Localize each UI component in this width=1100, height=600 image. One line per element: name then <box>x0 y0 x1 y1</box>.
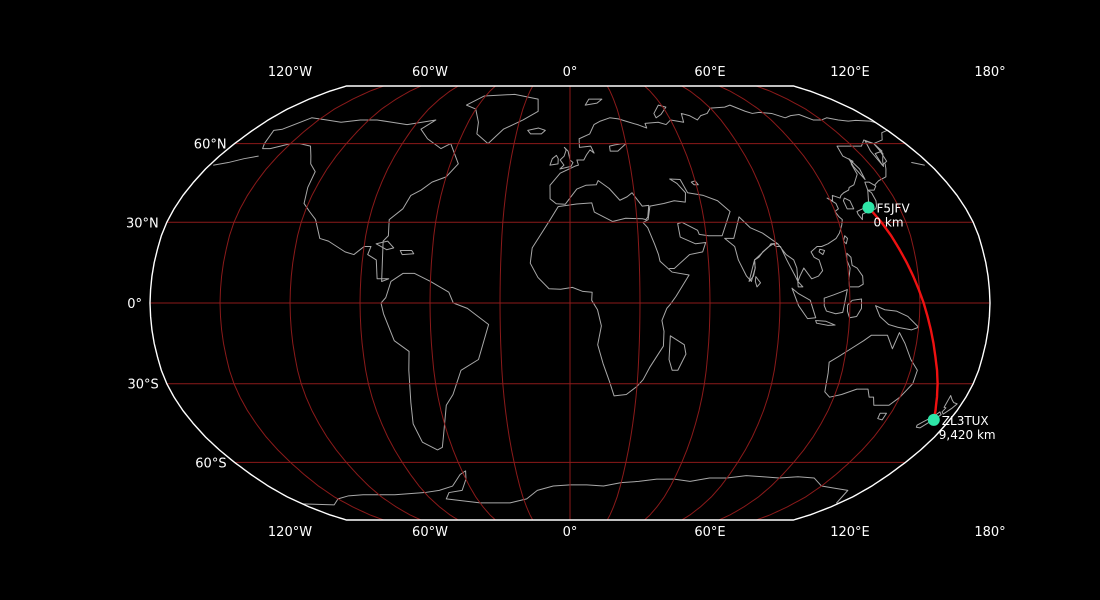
lat-tick--60: 60°S <box>195 456 226 471</box>
lon-tick-top-180: 180° <box>974 65 1005 80</box>
lon-tick-bottom-180: 180° <box>974 525 1005 540</box>
station-callsign-label-zl3tux: ZL3TUX <box>942 414 989 428</box>
station-marker-zl3tux[interactable] <box>928 414 940 426</box>
lat-tick--30: 30°S <box>128 378 159 393</box>
lon-tick-bottom-120: 120°E <box>830 525 870 540</box>
lon-tick-top--120: 120°W <box>268 65 312 80</box>
station-distance-label-zl3tux: 9,420 km <box>939 428 996 442</box>
map-figure: Robinson Projection PM63 to RE66HO (152°… <box>0 0 1100 600</box>
lon-tick-top-0: 0° <box>563 65 578 80</box>
lon-tick-bottom-60: 60°E <box>694 525 725 540</box>
lat-tick-0: 0° <box>127 297 142 312</box>
station-callsign-label-f5jfv: F5JFV <box>876 201 910 215</box>
lon-tick-top-60: 60°E <box>694 65 725 80</box>
robinson-map-canvas: F5JFV0 kmZL3TUX9,420 km 0°60°E120°E180°1… <box>0 0 1100 600</box>
lat-tick-30: 30°N <box>126 216 159 231</box>
lon-tick-bottom-0: 0° <box>563 525 578 540</box>
lon-tick-bottom--120: 120°W <box>268 525 312 540</box>
station-marker-f5jfv[interactable] <box>862 201 874 213</box>
lat-tick-60: 60°N <box>194 138 227 153</box>
map-background <box>0 0 1100 600</box>
lon-tick-top-120: 120°E <box>830 65 870 80</box>
station-distance-label-f5jfv: 0 km <box>873 215 903 229</box>
lon-tick-bottom--60: 60°W <box>412 525 448 540</box>
lon-tick-top--60: 60°W <box>412 65 448 80</box>
